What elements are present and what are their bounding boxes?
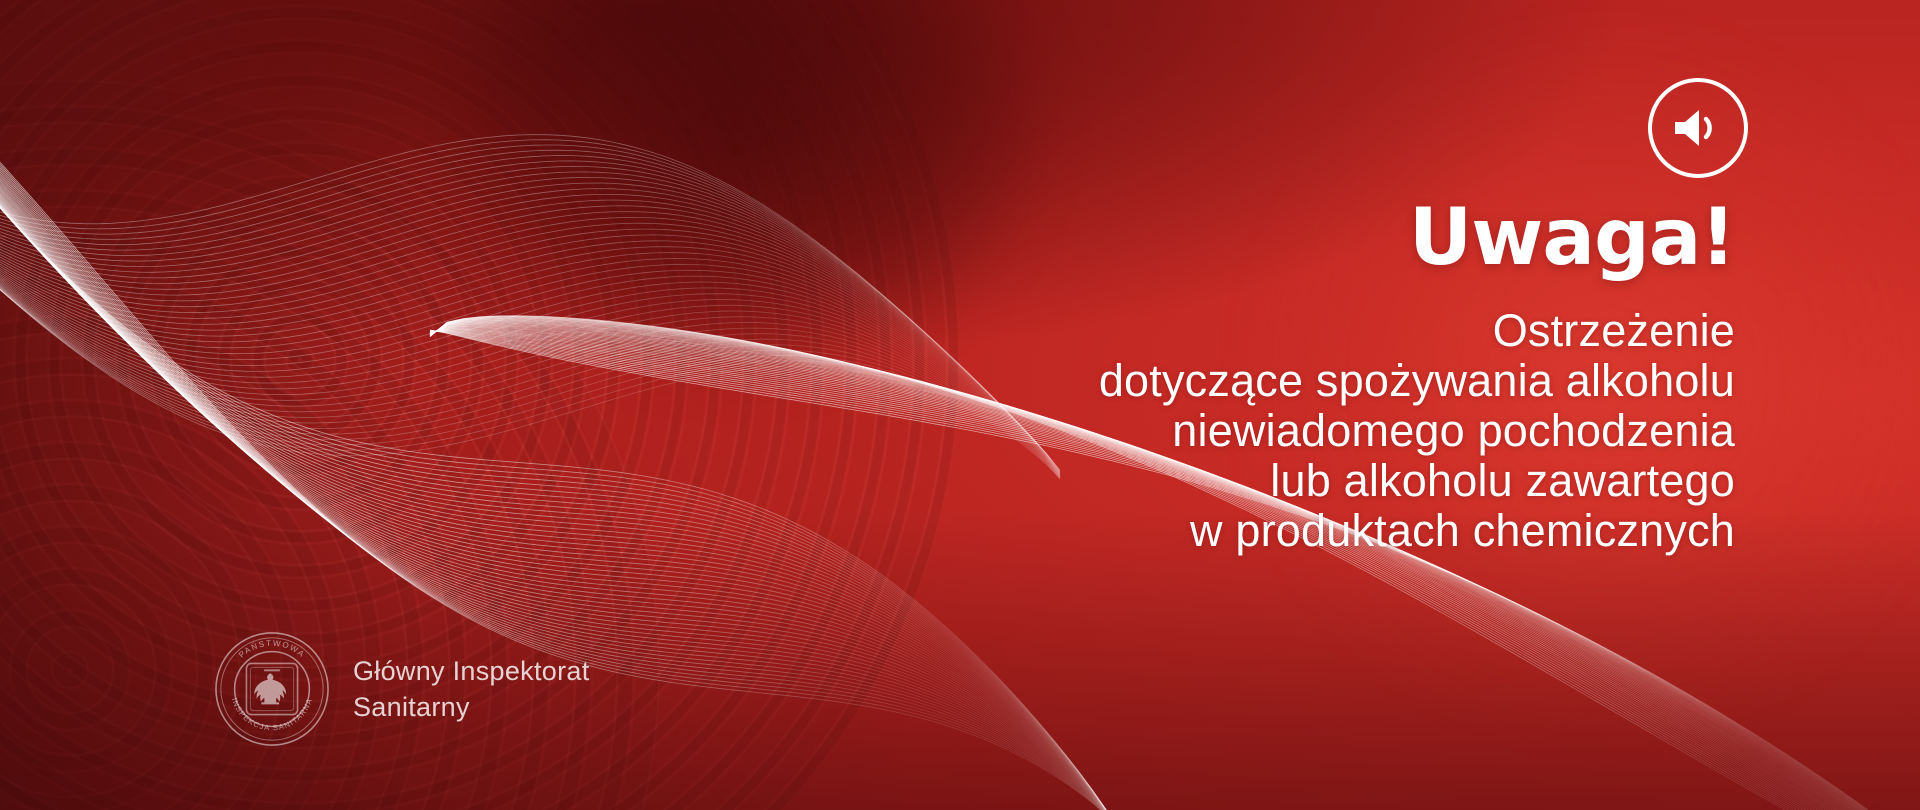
message-lines: Ostrzeżenie dotyczące spożywania alkohol… [735, 306, 1735, 556]
message-line: w produktach chemicznych [735, 506, 1735, 556]
svg-text:PAŃSTWOWA: PAŃSTWOWA [237, 639, 307, 660]
polish-eagle-seal-icon: PAŃSTWOWA INSPEKCJA SANITARNA [213, 630, 331, 748]
alert-banner: Uwaga! Ostrzeżenie dotyczące spożywania … [0, 0, 1920, 810]
page-title: Uwaga! [735, 196, 1735, 280]
message-block: Uwaga! Ostrzeżenie dotyczące spożywania … [735, 196, 1735, 556]
gis-logo-text: Główny Inspektorat Sanitarny [353, 653, 590, 725]
speaker-volume-icon [1671, 106, 1725, 150]
gis-logo: PAŃSTWOWA INSPEKCJA SANITARNA Główny Ins… [213, 630, 590, 748]
message-line: dotyczące spożywania alkoholu [735, 356, 1735, 406]
gis-name-line-1: Główny Inspektorat [353, 653, 590, 689]
message-line: lub alkoholu zawartego [735, 456, 1735, 506]
message-line: niewiadomego pochodzenia [735, 406, 1735, 456]
message-line: Ostrzeżenie [735, 306, 1735, 356]
gis-name-line-2: Sanitarny [353, 689, 590, 725]
audio-play-button[interactable] [1648, 78, 1748, 178]
